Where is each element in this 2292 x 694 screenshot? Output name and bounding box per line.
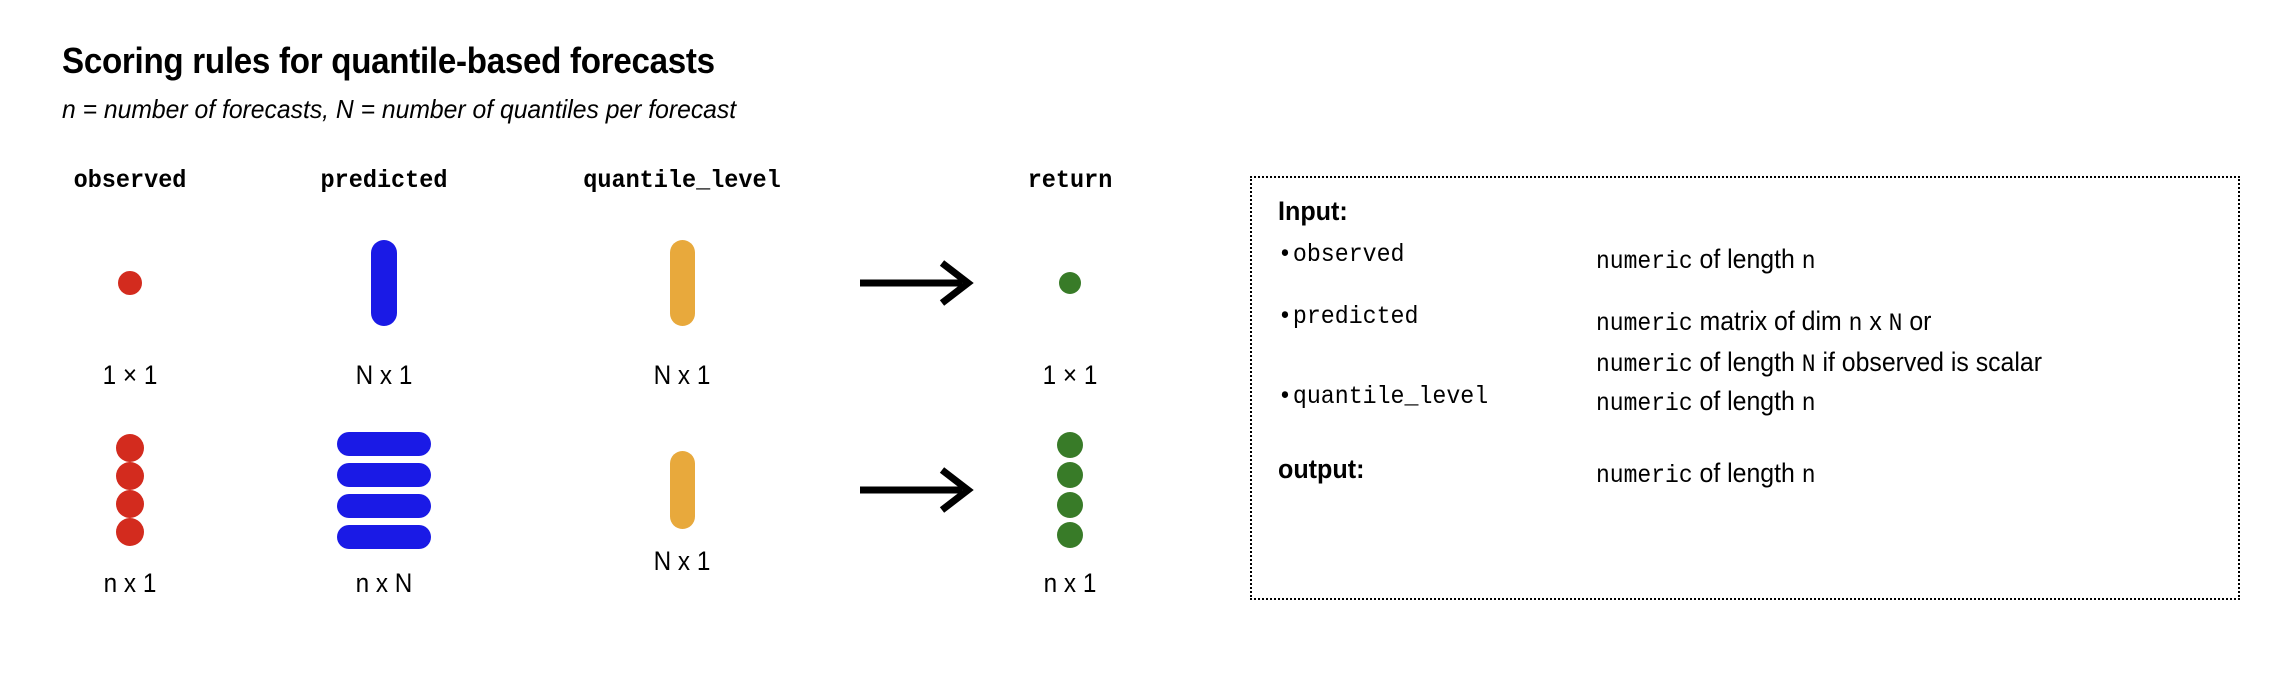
diagram-panel: observedpredictedquantile_levelreturn 1 … bbox=[0, 0, 1220, 694]
panel-item-key-observed: •observed bbox=[1278, 240, 1405, 269]
bullet-icon: • bbox=[1278, 382, 1293, 411]
panel-value-line: numeric of length n bbox=[1596, 382, 1816, 423]
column-header-observed: observed bbox=[74, 166, 187, 195]
panel-item-key-text: quantile_level bbox=[1293, 382, 1488, 411]
observed-dot bbox=[116, 490, 144, 518]
panel-value-line: numeric matrix of dim n x N or bbox=[1596, 302, 2042, 343]
observed-dot bbox=[116, 462, 144, 490]
column-header-return: return bbox=[1028, 166, 1113, 195]
observed-dot bbox=[116, 434, 144, 462]
observed-dot bbox=[118, 271, 142, 295]
dim-label-predicted-scalar-case: N x 1 bbox=[356, 360, 413, 391]
quantile-level-bar bbox=[670, 451, 695, 529]
predicted-bar bbox=[371, 240, 397, 326]
predicted-bar bbox=[337, 494, 431, 518]
panel-item-value-observed: numeric of length n bbox=[1596, 240, 1816, 281]
panel-output-label: output: bbox=[1278, 454, 1364, 485]
dim-label-quantile_level-scalar-case: N x 1 bbox=[654, 360, 711, 391]
dim-label-predicted-vector-case: n x N bbox=[356, 568, 413, 599]
panel-value-line: numeric of length n bbox=[1596, 240, 1816, 281]
return-dot bbox=[1059, 272, 1081, 294]
observed-dot bbox=[116, 518, 144, 546]
dim-label-observed-scalar-case: 1 × 1 bbox=[103, 360, 158, 391]
panel-item-key-predicted: •predicted bbox=[1278, 302, 1418, 331]
dim-label-quantile_level-vector-case: N x 1 bbox=[654, 546, 711, 577]
return-dot bbox=[1057, 492, 1083, 518]
bullet-icon: • bbox=[1278, 302, 1293, 331]
dim-label-return-vector-case: n x 1 bbox=[1044, 568, 1097, 599]
dim-label-return-scalar-case: 1 × 1 bbox=[1043, 360, 1098, 391]
panel-value-line: numeric of length N if observed is scala… bbox=[1596, 343, 2042, 384]
predicted-bar bbox=[337, 525, 431, 549]
bullet-icon: • bbox=[1278, 240, 1293, 269]
right-arrow-icon bbox=[858, 464, 978, 516]
predicted-bar bbox=[337, 432, 431, 456]
panel-value-line: numeric of length n bbox=[1596, 454, 1816, 495]
quantile-level-bar bbox=[670, 240, 695, 326]
return-dot bbox=[1057, 462, 1083, 488]
panel-item-key-text: predicted bbox=[1293, 302, 1419, 331]
input-output-panel: Input: •observednumeric of length n•pred… bbox=[1250, 176, 2240, 600]
predicted-bar bbox=[337, 463, 431, 487]
dim-label-observed-vector-case: n x 1 bbox=[104, 568, 157, 599]
panel-item-value-quantile_level: numeric of length n bbox=[1596, 382, 1816, 423]
column-header-quantile_level: quantile_level bbox=[583, 166, 780, 195]
return-dot bbox=[1057, 432, 1083, 458]
column-header-predicted: predicted bbox=[321, 166, 448, 195]
panel-item-key-text: observed bbox=[1293, 240, 1405, 269]
right-arrow-icon bbox=[858, 257, 978, 309]
panel-output-value: numeric of length n bbox=[1596, 454, 1816, 495]
return-dot bbox=[1057, 522, 1083, 548]
panel-item-key-quantile_level: •quantile_level bbox=[1278, 382, 1488, 411]
panel-input-label: Input: bbox=[1278, 196, 1348, 227]
panel-item-value-predicted: numeric matrix of dim n x N ornumeric of… bbox=[1596, 302, 2042, 384]
